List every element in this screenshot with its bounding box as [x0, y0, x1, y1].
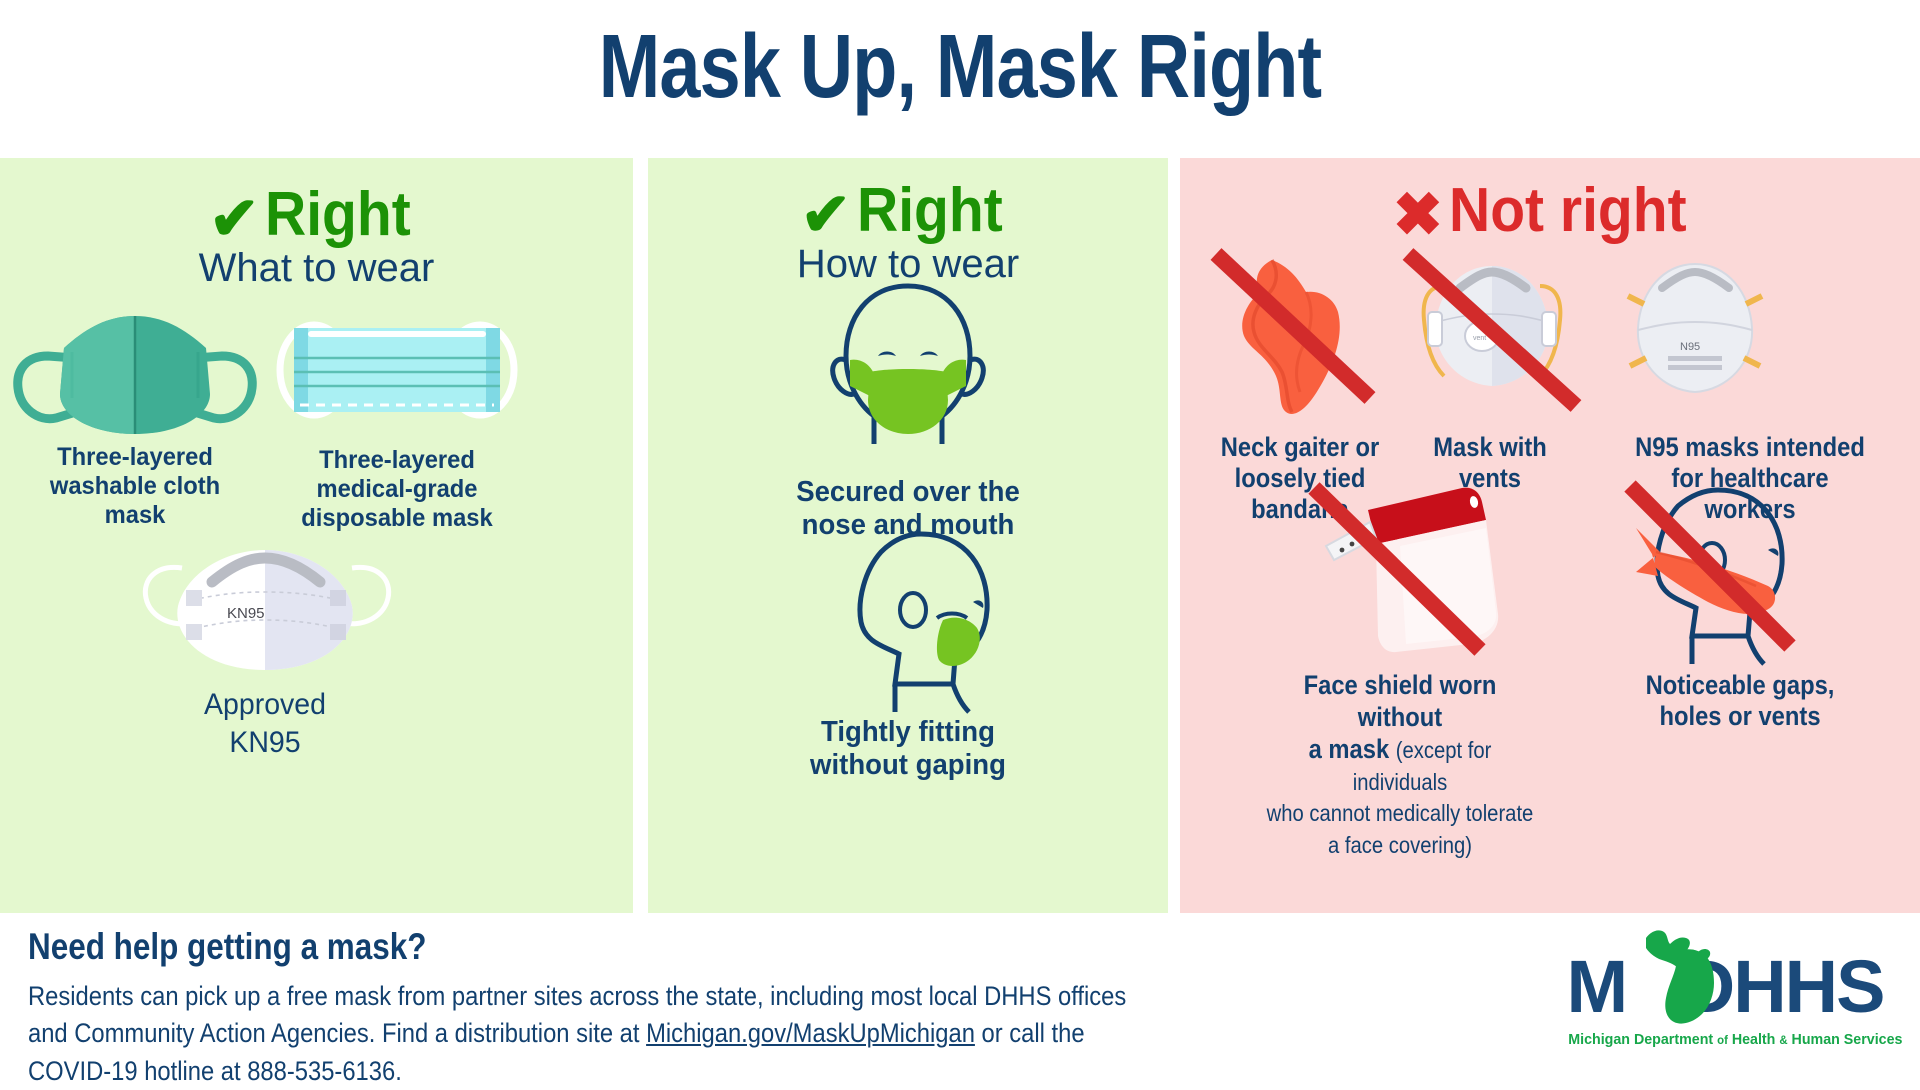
caption-noticeable-gaps: Noticeable gaps,holes or vents — [1590, 670, 1889, 732]
x-icon: ✖ — [1393, 185, 1443, 245]
footer-heading: Need help getting a mask? — [28, 928, 426, 965]
n95-badge-text: N95 — [1680, 341, 1700, 353]
caption-kn95: ApprovedKN95 — [137, 686, 394, 761]
check-icon: ✔ — [209, 189, 259, 249]
panel-not-verdict: ✖Not right — [1180, 180, 1920, 245]
verdict-label: Not right — [1449, 180, 1687, 242]
michigan-state-icon — [1632, 926, 1728, 1031]
caption-cloth-mask: Three-layeredwashable clothmask — [16, 443, 254, 529]
panel-how-to-wear: ✔Right How to wear Secured over thenose … — [648, 158, 1168, 913]
verdict-label: Right — [265, 184, 411, 246]
side-head-bandana-icon — [1600, 480, 1810, 665]
panel-what-to-wear: ✔Right What to wear — [0, 158, 633, 913]
kn95-mask-icon: KN95 — [130, 536, 400, 686]
front-head-masked-icon — [808, 276, 1008, 456]
infographic-root: Mask Up, Mask Right ✔Right What to wear — [0, 0, 1920, 1081]
maskup-link[interactable]: Michigan.gov/MaskUpMichigan — [646, 1018, 975, 1048]
panel-how-verdict: ✔Right — [648, 180, 1168, 245]
svg-text:vent: vent — [1473, 335, 1486, 342]
mdhhs-logo: MODHHS Michigan Department of Health & H… — [1560, 932, 1890, 1057]
n95-mask-icon: N95 — [1610, 246, 1780, 421]
caption-surgical-mask: Three-layeredmedical-gradedisposable mas… — [278, 446, 516, 532]
kn95-badge-text: KN95 — [227, 605, 265, 622]
page-title: Mask Up, Mask Right — [173, 22, 1747, 112]
vented-mask-icon: vent — [1402, 244, 1582, 424]
face-shield-icon — [1290, 480, 1505, 665]
bandana-icon — [1202, 244, 1382, 424]
side-head-masked-icon — [803, 526, 1013, 716]
wordmark-m: M — [1567, 945, 1627, 1028]
verdict-label: Right — [857, 180, 1003, 242]
footer-body: Residents can pick up a free mask from p… — [28, 978, 1163, 1090]
surgical-mask-icon — [272, 310, 522, 430]
panel-what-subtitle: What to wear — [0, 248, 633, 288]
check-icon: ✔ — [801, 185, 851, 245]
panel-what-verdict: ✔Right — [0, 184, 633, 249]
panel-not-right: ✖Not right vent — [1180, 158, 1920, 913]
caption-tightly-fitting: Tightly fittingwithout gaping — [694, 716, 1122, 783]
cloth-mask-icon — [10, 308, 260, 438]
caption-face-shield: Face shield worn withouta mask (except f… — [1259, 670, 1541, 861]
mdhhs-tagline: Michigan Department of Health & Human Se… — [1568, 1032, 1882, 1047]
